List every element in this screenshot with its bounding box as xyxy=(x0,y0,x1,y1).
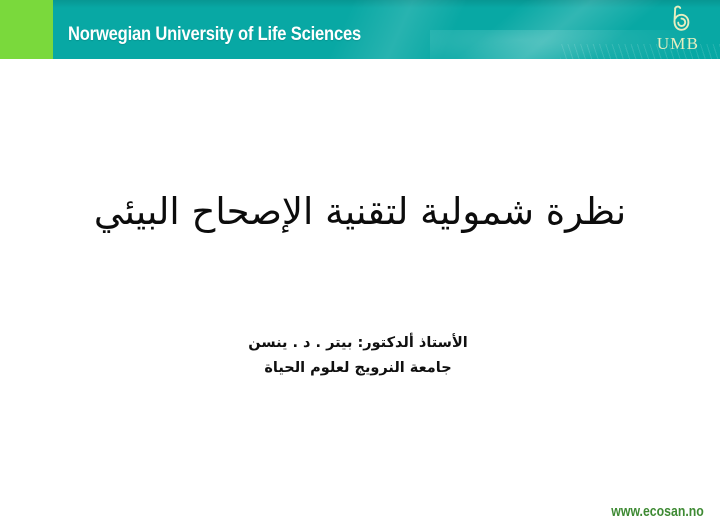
slide-body: نظرة شمولية لتقنية الإصحاح البيئي الأستا… xyxy=(0,59,720,528)
header-top-shadow xyxy=(0,0,720,8)
subtitle-line-author: الأستاذ ألدكتور: بيتر . د . ينسن xyxy=(60,331,656,356)
slide-title: نظرة شمولية لتقنية الإصحاح البيئي xyxy=(60,187,660,237)
slide-subtitle-block: الأستاذ ألدكتور: بيتر . د . ينسن جامعة ا… xyxy=(60,331,656,381)
footer-website-url[interactable]: www.ecosan.no xyxy=(611,503,704,520)
umb-spiral-mark-icon xyxy=(650,4,706,34)
umb-logo: UMB xyxy=(650,4,706,56)
header-green-accent-block xyxy=(0,0,53,59)
subtitle-line-affiliation: جامعة النرويج لعلوم الحياة xyxy=(60,356,656,381)
institution-name: Norwegian University of Life Sciences xyxy=(68,24,361,46)
umb-wordmark: UMB xyxy=(650,34,706,54)
presentation-slide: Norwegian University of Life Sciences UM… xyxy=(0,0,720,528)
slide-header-band: Norwegian University of Life Sciences UM… xyxy=(0,0,720,59)
